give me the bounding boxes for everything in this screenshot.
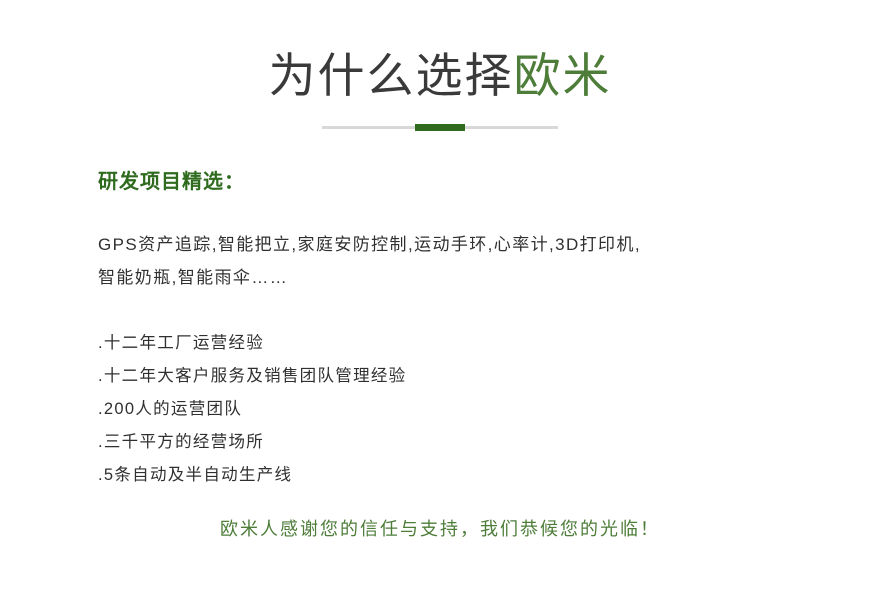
title-divider-mark [415, 124, 465, 131]
page-title-accent: 欧米 [514, 49, 612, 102]
list-item: .三千平方的经营场所 [98, 426, 818, 459]
title-divider [322, 126, 558, 129]
content-body: 研发项目精选： GPS资产追踪,智能把立,家庭安防控制,运动手环,心率计,3D打… [98, 168, 818, 492]
page-title: 为什么选择欧米 [0, 46, 880, 106]
section-heading: 研发项目精选： [98, 168, 818, 196]
footer-note: 欧米人感谢您的信任与支持，我们恭候您的光临！ [0, 514, 880, 544]
page-title-main: 为什么选择 [269, 49, 514, 102]
intro-line: GPS资产追踪,智能把立,家庭安防控制,运动手环,心率计,3D打印机, [98, 228, 818, 261]
list-item: .十二年大客户服务及销售团队管理经验 [98, 360, 818, 393]
intro-paragraph: GPS资产追踪,智能把立,家庭安防控制,运动手环,心率计,3D打印机, 智能奶瓶… [98, 228, 818, 294]
feature-list: .十二年工厂运营经验 .十二年大客户服务及销售团队管理经验 .200人的运营团队… [98, 327, 818, 492]
page-header: 为什么选择欧米 [0, 46, 880, 106]
list-item: .200人的运营团队 [98, 393, 818, 426]
promo-page: 为什么选择欧米 研发项目精选： GPS资产追踪,智能把立,家庭安防控制,运动手环… [0, 0, 880, 601]
intro-line: 智能奶瓶,智能雨伞…… [98, 261, 818, 294]
list-item: .5条自动及半自动生产线 [98, 459, 818, 492]
list-item: .十二年工厂运营经验 [98, 327, 818, 360]
